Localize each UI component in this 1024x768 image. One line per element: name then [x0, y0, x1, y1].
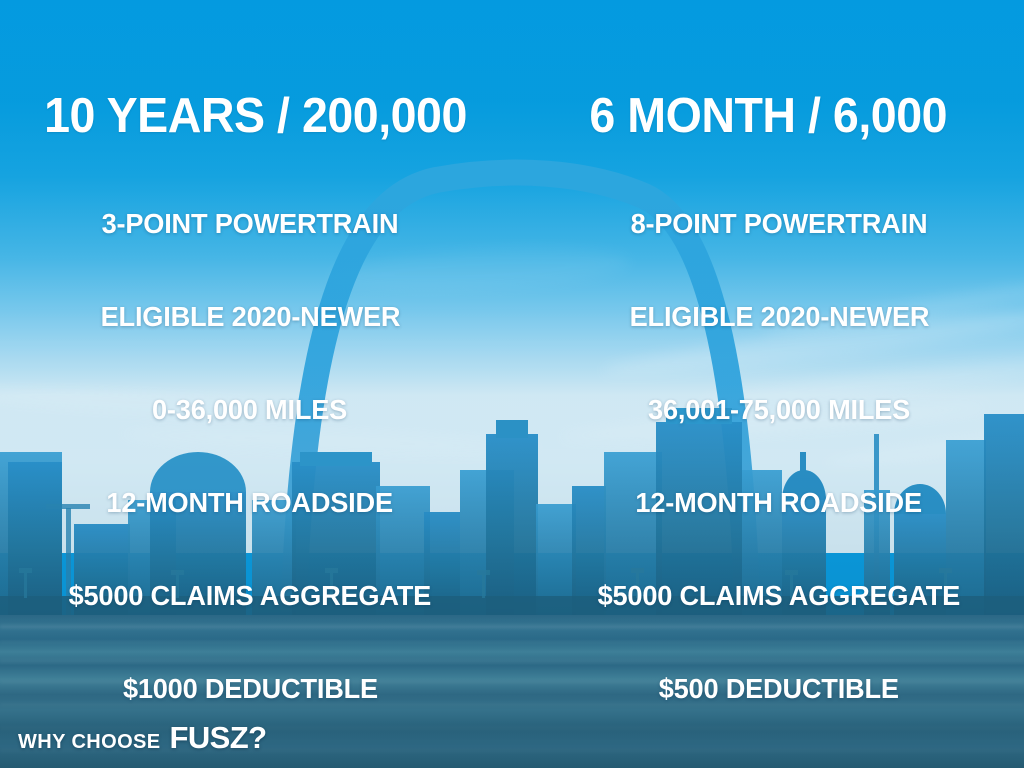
feature-item: 36,001-75,000 MILES — [648, 363, 910, 456]
feature-item: $5000 CLAIMS AGGREGATE — [69, 549, 431, 642]
feature-item: 12-MONTH ROADSIDE — [636, 456, 922, 549]
feature-item: ELIGIBLE 2020-NEWER — [629, 270, 929, 363]
feature-list: 8-POINT POWERTRAIN ELIGIBLE 2020-NEWER 3… — [512, 177, 1024, 735]
feature-list: 3-POINT POWERTRAIN ELIGIBLE 2020-NEWER 0… — [0, 177, 512, 735]
feature-item: 8-POINT POWERTRAIN — [631, 177, 928, 270]
coverage-column-6-month: 6 MONTH / 6,000 8-POINT POWERTRAIN ELIGI… — [512, 0, 1024, 720]
slide-canvas: 10 YEARS / 200,000 3-POINT POWERTRAIN EL… — [0, 0, 1024, 768]
feature-item: $5000 CLAIMS AGGREGATE — [598, 549, 960, 642]
brand-name-text: FUSZ? — [170, 720, 267, 756]
coverage-column-10-year: 10 YEARS / 200,000 3-POINT POWERTRAIN EL… — [0, 0, 512, 720]
feature-item: 12-MONTH ROADSIDE — [107, 456, 393, 549]
feature-item: ELIGIBLE 2020-NEWER — [100, 270, 400, 363]
feature-item: 3-POINT POWERTRAIN — [102, 177, 399, 270]
comparison-columns: 10 YEARS / 200,000 3-POINT POWERTRAIN EL… — [0, 0, 1024, 720]
column-title: 10 YEARS / 200,000 — [45, 92, 468, 141]
brand-lockup: WHY CHOOSE FUSZ? — [18, 720, 266, 756]
brand-lead-text: WHY CHOOSE — [18, 731, 161, 754]
feature-item: $500 DEDUCTIBLE — [659, 642, 899, 735]
column-title: 6 MONTH / 6,000 — [589, 92, 947, 141]
slide-content: 10 YEARS / 200,000 3-POINT POWERTRAIN EL… — [0, 0, 1024, 768]
feature-item: 0-36,000 MILES — [152, 363, 347, 456]
